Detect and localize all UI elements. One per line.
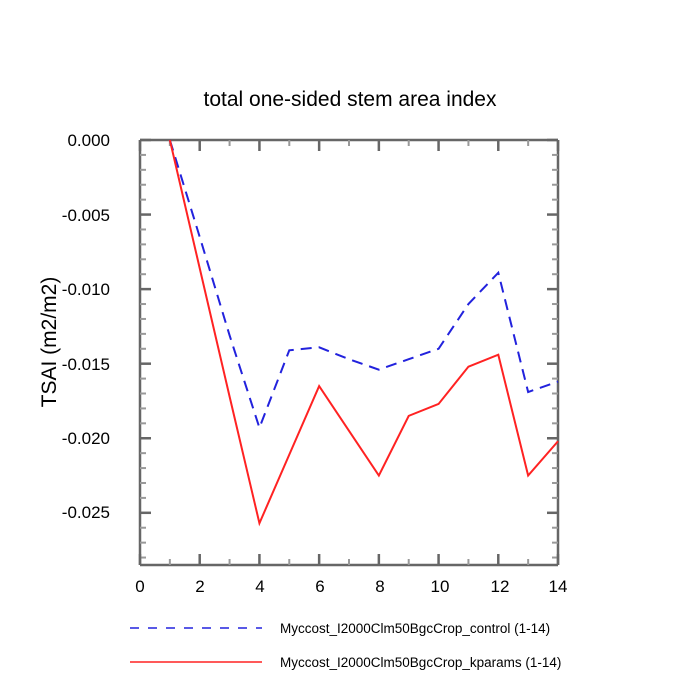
data-series <box>170 140 558 523</box>
legend-keys <box>130 628 262 662</box>
series-line-control <box>170 140 558 428</box>
axes-frame <box>140 140 558 565</box>
plot-area <box>0 0 700 700</box>
chart-figure: total one-sided stem area index TSAI (m2… <box>0 0 700 700</box>
axis-ticks <box>140 140 558 565</box>
